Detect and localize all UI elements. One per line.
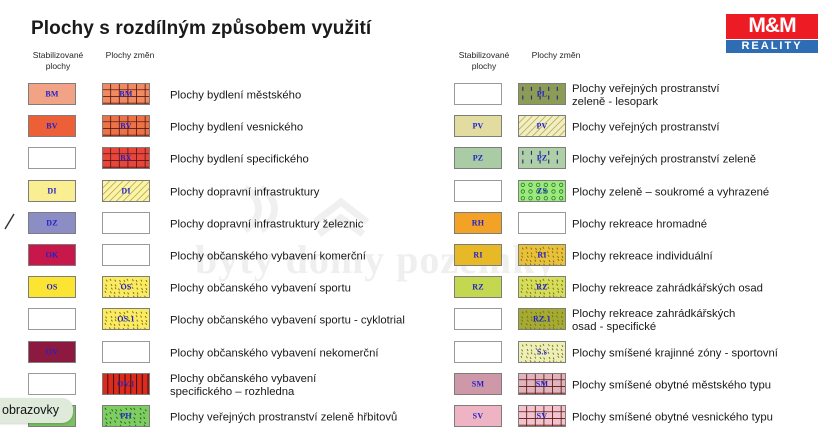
swatch-stabilized: BV: [28, 115, 76, 137]
swatch-stabilized: [454, 83, 502, 105]
legend-label: Plochy rekreace zahrádkářských osad: [572, 283, 763, 296]
header-change-areas: Plochy zmĕn: [96, 50, 164, 61]
swatch-change: PH: [102, 405, 150, 427]
swatch-stabilized: [28, 308, 76, 330]
swatch-stabilized: DZ: [28, 212, 76, 234]
swatch-code: OV: [29, 347, 75, 356]
swatch-change: PV: [518, 115, 566, 137]
swatch-code: PH: [103, 411, 149, 420]
swatch-change: [102, 244, 150, 266]
legend-row: PZPZPlochy veřejných prostranství zeleně: [450, 144, 826, 176]
legend-label: Plochy veřejných prostranství zeleně - l…: [572, 83, 720, 109]
legend-label: Plochy zeleně – soukromé a vyhrazené: [572, 186, 769, 199]
swatch-change: BX: [102, 147, 150, 169]
swatch-change: PL: [518, 83, 566, 105]
swatch-code: BV: [29, 122, 75, 131]
swatch-stabilized: SV: [454, 405, 502, 427]
legend-row: PHPHPlochy veřejných prostranství zeleně…: [24, 402, 434, 434]
swatch-code: PV: [455, 122, 501, 131]
swatch-code: RZ: [455, 283, 501, 292]
swatch-code: OS.1: [103, 315, 149, 324]
swatch-code: OS: [103, 283, 149, 292]
logo-mark: M&M: [726, 14, 818, 39]
swatch-stabilized: PZ: [454, 147, 502, 169]
legend-label: Plochy rekreace zahrádkářských osad - sp…: [572, 308, 735, 334]
swatch-stabilized: [28, 373, 76, 395]
swatch-change: [102, 341, 150, 363]
logo-subtitle: REALITY: [726, 40, 818, 53]
legend-row: SMSMPlochy smíšené obytné městského typu: [450, 370, 826, 402]
legend-row: RHPlochy rekreace hromadné: [450, 209, 826, 241]
swatch-change: SM: [518, 373, 566, 395]
swatch-stabilized: BM: [28, 83, 76, 105]
legend-label: Plochy bydlení specifického: [170, 154, 309, 167]
legend-label: Plochy občanského vybavení komerční: [170, 251, 366, 264]
swatch-stabilized: RZ: [454, 276, 502, 298]
swatch-stabilized: [454, 341, 502, 363]
column-headers-left: Stabilizované plochy Plochy zmĕn: [24, 50, 434, 80]
swatch-code: RH: [455, 218, 501, 227]
legend-label: Plochy veřejných prostranství zeleně: [572, 154, 756, 167]
swatch-stabilized: [454, 308, 502, 330]
legend-label: Plochy občanského vybavení specifického …: [170, 373, 316, 399]
swatch-change: SV: [518, 405, 566, 427]
swatch-stabilized: [454, 180, 502, 202]
legend-column-left: Stabilizované plochy Plochy zmĕn BMBMPlo…: [24, 50, 434, 434]
legend-row: ZSPlochy zeleně – soukromé a vyhrazené: [450, 177, 826, 209]
legend-label: Plochy bydlení vesnického: [170, 122, 303, 135]
swatch-stabilized: OS: [28, 276, 76, 298]
swatch-code: BV: [103, 122, 149, 131]
swatch-code: DZ: [29, 218, 75, 227]
swatch-code: SV: [519, 411, 565, 420]
swatch-change: RZ.1: [518, 308, 566, 330]
tooltip-label: obrazovky: [2, 403, 59, 417]
swatch-code: DI: [29, 186, 75, 195]
swatch-code: RI: [455, 250, 501, 259]
swatch-stabilized: DI: [28, 180, 76, 202]
swatch-change: RZ: [518, 276, 566, 298]
swatch-change: RI: [518, 244, 566, 266]
legend-row: RZRZPlochy rekreace zahrádkářských osad: [450, 273, 826, 305]
swatch-code: S.s: [519, 347, 565, 356]
legend-label: Plochy občanského vybavení nekomerční: [170, 347, 379, 360]
swatch-change: OS.1: [102, 308, 150, 330]
legend-label: Plochy smíšené obytné městského typu: [572, 379, 771, 392]
swatch-code: BM: [103, 90, 149, 99]
swatch-code: BX: [103, 154, 149, 163]
swatch-change: BV: [102, 115, 150, 137]
legend-label: Plochy bydlení městského: [170, 90, 301, 103]
legend-row: PVPVPlochy veřejných prostranství: [450, 112, 826, 144]
mm-reality-logo: M&M REALITY: [726, 14, 818, 53]
legend-row: OS.1Plochy občanského vybavení sportu - …: [24, 305, 434, 337]
swatch-stabilized: RI: [454, 244, 502, 266]
legend-label: Plochy smíšené krajinné zóny - sportovní: [572, 347, 778, 360]
swatch-change: OV.1: [102, 373, 150, 395]
legend-row: OV.1Plochy občanského vybavení specifick…: [24, 370, 434, 402]
swatch-code: DI: [103, 186, 149, 195]
swatch-change: [518, 212, 566, 234]
swatch-stabilized: SM: [454, 373, 502, 395]
legend-label: Plochy veřejných prostranství: [572, 122, 720, 135]
swatch-stabilized: OV: [28, 341, 76, 363]
legend-label: Plochy rekreace hromadné: [572, 218, 707, 231]
swatch-stabilized: RH: [454, 212, 502, 234]
legend-row: PLPlochy veřejných prostranství zeleně -…: [450, 80, 826, 112]
swatch-change: ZS: [518, 180, 566, 202]
screen-tooltip: obrazovky: [0, 398, 73, 423]
swatch-code: SM: [455, 379, 501, 388]
legend-row: BVBVPlochy bydlení vesnického: [24, 112, 434, 144]
swatch-stabilized: OK: [28, 244, 76, 266]
swatch-stabilized: PV: [454, 115, 502, 137]
legend-label: Plochy dopravní infrastruktury železnic: [170, 218, 363, 231]
header-change-areas: Plochy zmĕn: [522, 50, 590, 61]
header-stabilized-areas: Stabilizované plochy: [24, 50, 92, 71]
legend-label: Plochy občanského vybavení sportu: [170, 283, 351, 296]
swatch-code: PV: [519, 122, 565, 131]
legend-row: DIDIPlochy dopravní infrastruktury: [24, 177, 434, 209]
legend-row: BXPlochy bydlení specifického: [24, 144, 434, 176]
edge-tick-mark: [3, 212, 17, 232]
swatch-code: PZ: [519, 154, 565, 163]
swatch-code: ZS: [519, 186, 565, 195]
legend-row: SVSVPlochy smíšené obytné vesnického typ…: [450, 402, 826, 434]
legend-row: S.sPlochy smíšené krajinné zóny - sporto…: [450, 338, 826, 370]
swatch-code: OK: [29, 250, 75, 259]
swatch-stabilized: [28, 147, 76, 169]
legend-label: Plochy veřejných prostranství zeleně hřb…: [170, 411, 397, 424]
swatch-change: DI: [102, 180, 150, 202]
swatch-code: RZ.1: [519, 315, 565, 324]
page-title: Plochy s rozdílným způsobem využití: [31, 18, 371, 40]
swatch-code: SV: [455, 411, 501, 420]
legend-row: DZPlochy dopravní infrastruktury železni…: [24, 209, 434, 241]
legend-label: Plochy občanského vybavení sportu - cykl…: [170, 315, 405, 328]
swatch-code: PL: [519, 90, 565, 99]
swatch-change: OS: [102, 276, 150, 298]
header-stabilized-areas: Stabilizované plochy: [450, 50, 518, 71]
swatch-change: BM: [102, 83, 150, 105]
swatch-code: OS: [29, 283, 75, 292]
legend-row: RIRIPlochy rekreace individuální: [450, 241, 826, 273]
swatch-code: PZ: [455, 154, 501, 163]
legend-column-right: Stabilizované plochy Plochy zmĕn PLPloch…: [450, 50, 826, 434]
legend-row: OVPlochy občanského vybavení nekomerční: [24, 338, 434, 370]
swatch-code: SM: [519, 379, 565, 388]
swatch-code: OV.1: [103, 379, 149, 388]
column-headers-right: Stabilizované plochy Plochy zmĕn: [450, 50, 826, 80]
swatch-code: RZ: [519, 283, 565, 292]
legend-label: Plochy rekreace individuální: [572, 251, 713, 264]
swatch-change: PZ: [518, 147, 566, 169]
swatch-change: S.s: [518, 341, 566, 363]
legend-row: OKPlochy občanského vybavení komerční: [24, 241, 434, 273]
swatch-change: [102, 212, 150, 234]
legend-row: RZ.1Plochy rekreace zahrádkářských osad …: [450, 305, 826, 337]
legend-label: Plochy dopravní infrastruktury: [170, 186, 319, 199]
swatch-code: BM: [29, 90, 75, 99]
legend-label: Plochy smíšené obytné vesnického typu: [572, 411, 773, 424]
legend-row: BMBMPlochy bydlení městského: [24, 80, 434, 112]
swatch-code: RI: [519, 250, 565, 259]
legend-row: OSOSPlochy občanského vybavení sportu: [24, 273, 434, 305]
